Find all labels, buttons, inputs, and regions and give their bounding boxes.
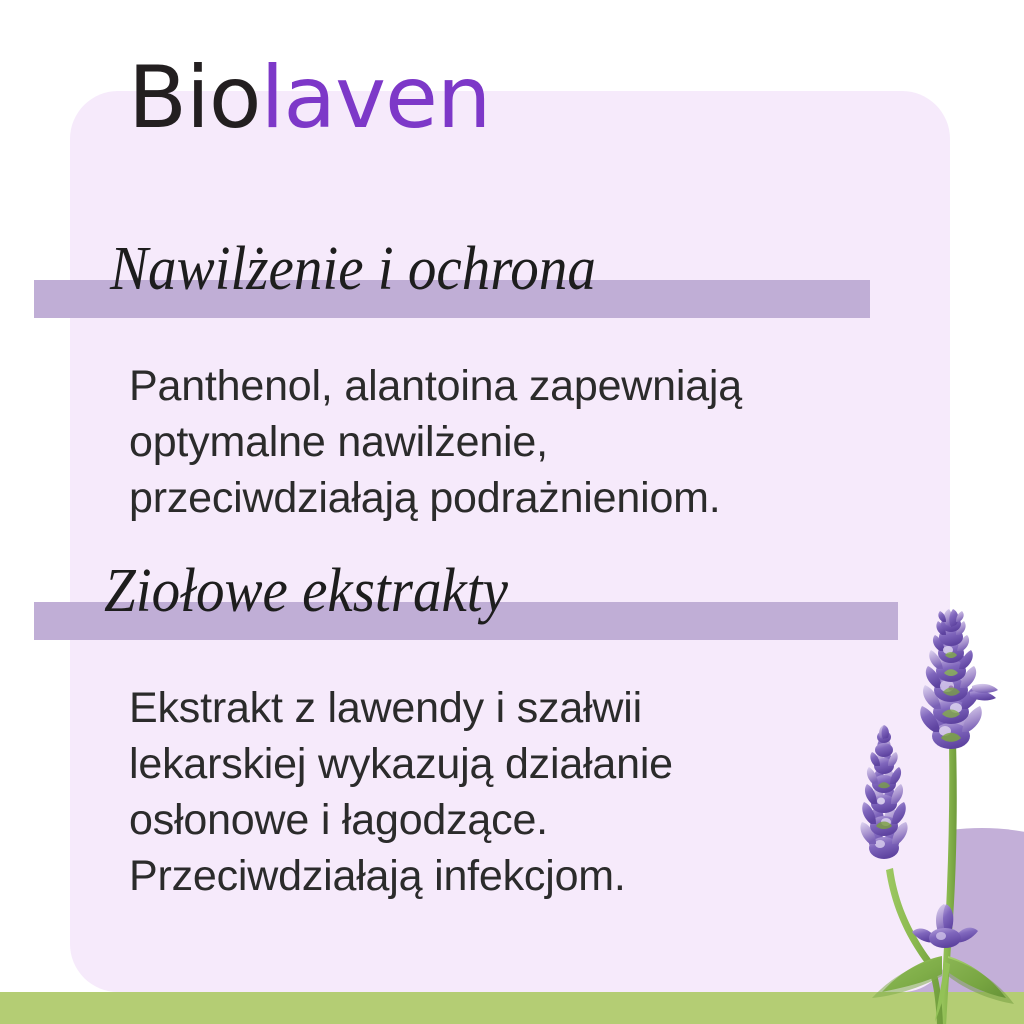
section-body-1: Panthenol, alantoina zapewniają optymaln… (129, 358, 919, 526)
brand-logo-dark-part: Bio (128, 48, 261, 148)
brand-logo-purple-part: laven (261, 48, 491, 148)
brand-logo: Biolaven (128, 55, 490, 141)
lavender-flower-icon (838, 606, 1024, 1024)
promo-banner: Biolaven Nawilżenie i ochrona Panthenol,… (0, 0, 1024, 1024)
section-heading-1: Nawilżenie i ochrona (110, 238, 596, 300)
section-body-2: Ekstrakt z lawendy i szałwii lekarskiej … (129, 680, 919, 904)
section-heading-2: Ziołowe ekstrakty (104, 560, 508, 622)
